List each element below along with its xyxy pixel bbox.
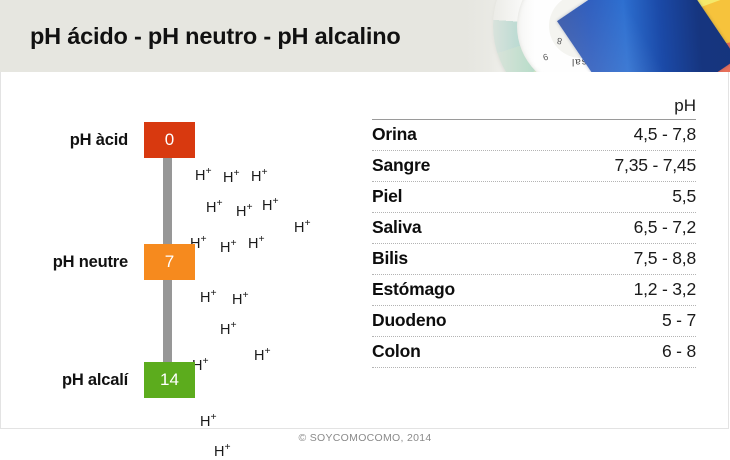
hydrogen-ion: H+: [200, 290, 217, 306]
hydrogen-ion: H+: [236, 204, 253, 220]
table-row-value: 5,5: [672, 186, 696, 207]
header-band: 9 8 7 6 5 4 3 2 universal pH ácido - pH …: [0, 0, 730, 72]
table-row-value: 4,5 - 7,8: [634, 124, 696, 145]
table-row: Orina4,5 - 7,8: [372, 120, 696, 151]
table-row-name: Duodeno: [372, 310, 446, 331]
table-row-name: Estómago: [372, 279, 455, 300]
table-row-name: Saliva: [372, 217, 421, 238]
hydrogen-ion: H+: [248, 236, 265, 252]
table-row-value: 5 - 7: [662, 310, 696, 331]
hydrogen-ion: H+: [262, 198, 279, 214]
table-row: Duodeno5 - 7: [372, 306, 696, 337]
hydrogen-ion: H+: [251, 169, 268, 185]
table-row: Colon6 - 8: [372, 337, 696, 368]
table-row: Bilis7,5 - 8,8: [372, 244, 696, 275]
hydrogen-ion: H+: [220, 322, 237, 338]
ph-values-table: pH Orina4,5 - 7,8Sangre7,35 - 7,45Piel5,…: [372, 96, 696, 368]
ph-level-neutral-label: pH neutre: [53, 244, 144, 280]
hydrogen-ion: H+: [195, 168, 212, 184]
hydrogen-ion: H+: [200, 414, 217, 430]
photo-left-fade: [465, 0, 535, 72]
table-row-name: Sangre: [372, 155, 430, 176]
hydrogen-ion: H+: [214, 444, 231, 460]
hydrogen-ion: H+: [220, 240, 237, 256]
hydrogen-ion: H+: [254, 348, 271, 364]
footer-credit: © SOYCOMOCOMO, 2014: [0, 432, 730, 444]
table-header-row: pH: [372, 96, 696, 120]
table-body: Orina4,5 - 7,8Sangre7,35 - 7,45Piel5,5Sa…: [372, 120, 696, 368]
ph-level-alkaline-label: pH alcalí: [62, 362, 144, 398]
table-header-ph: pH: [674, 96, 696, 116]
hydrogen-ion: H+: [232, 292, 249, 308]
table-row-name: Piel: [372, 186, 402, 207]
hydrogen-ion: H+: [294, 220, 311, 236]
ph-color-wheel-photo: 9 8 7 6 5 4 3 2 universal: [465, 0, 730, 72]
table-row-name: Colon: [372, 341, 421, 362]
ph-scale-diagram: pH àcid 0 pH neutre 7 pH alcalí 14 H+H+H…: [0, 72, 350, 429]
hydrogen-ion: H+: [223, 170, 240, 186]
table-row-name: Orina: [372, 124, 417, 145]
table-row-value: 6 - 8: [662, 341, 696, 362]
table-row-value: 6,5 - 7,2: [634, 217, 696, 238]
table-row-value: 1,2 - 3,2: [634, 279, 696, 300]
hydrogen-ion: H+: [206, 200, 223, 216]
ph-level-alkaline-value: 14: [144, 362, 195, 398]
table-row: Sangre7,35 - 7,45: [372, 151, 696, 182]
ph-level-acid-value: 0: [144, 122, 195, 158]
table-row: Piel5,5: [372, 182, 696, 213]
table-row-value: 7,35 - 7,45: [615, 155, 696, 176]
table-row-name: Bilis: [372, 248, 408, 269]
slide-root: 9 8 7 6 5 4 3 2 universal pH ácido - pH …: [0, 0, 730, 460]
table-row: Saliva6,5 - 7,2: [372, 213, 696, 244]
ph-level-acid-label: pH àcid: [70, 122, 144, 158]
table-row-value: 7,5 - 8,8: [634, 248, 696, 269]
page-title: pH ácido - pH neutro - pH alcalino: [30, 0, 401, 72]
table-row: Estómago1,2 - 3,2: [372, 275, 696, 306]
ph-level-neutral-value: 7: [144, 244, 195, 280]
